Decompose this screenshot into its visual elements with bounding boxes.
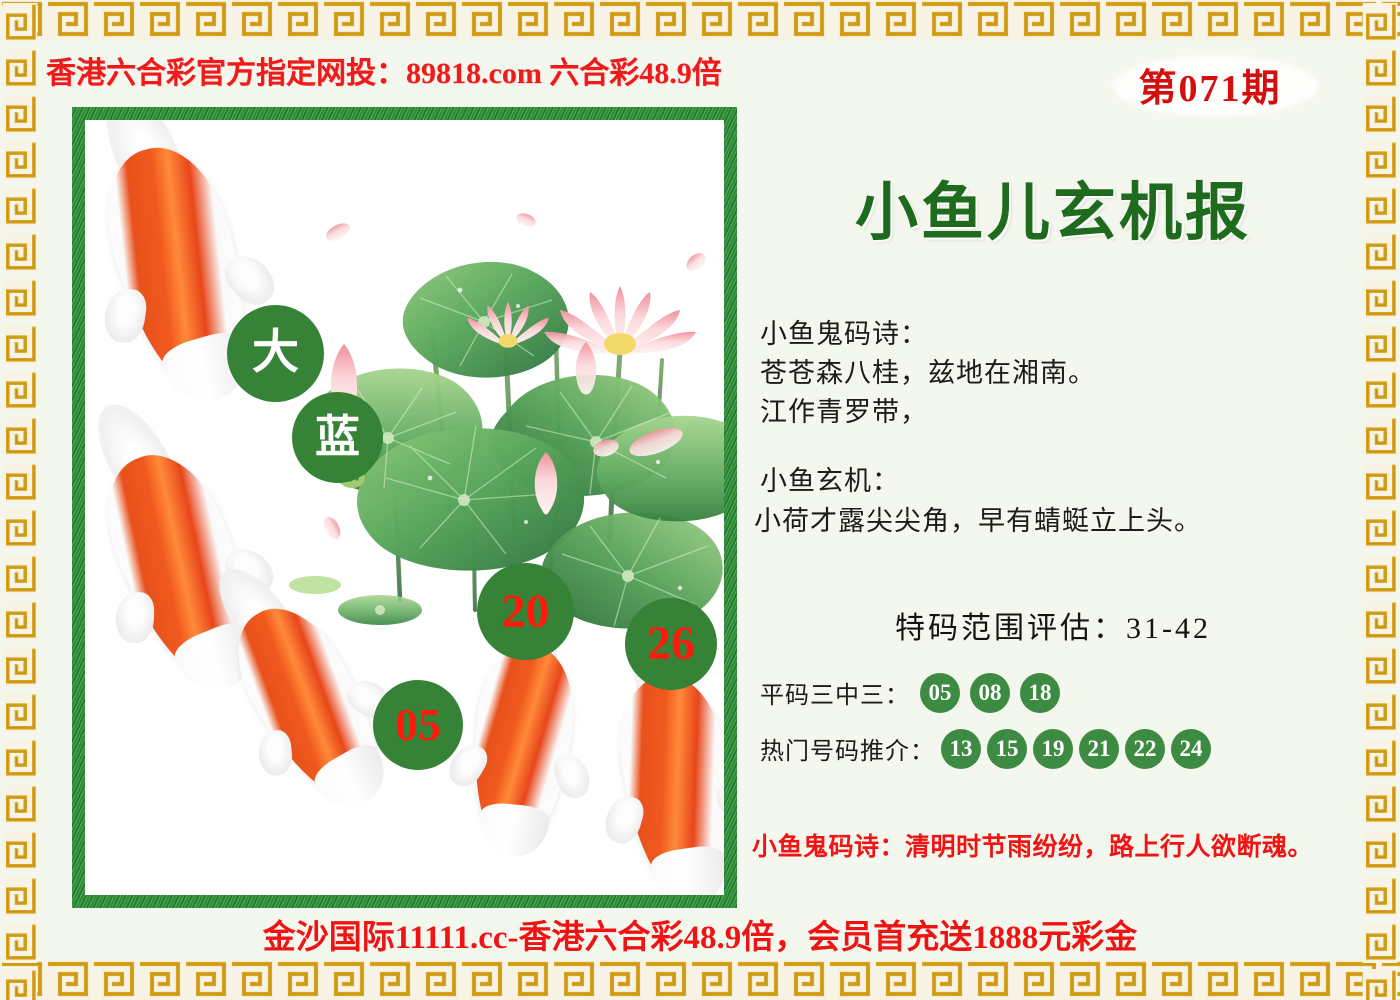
hot-number-ball: 24 (1171, 729, 1211, 769)
red-poem-note: 小鱼鬼码诗：清明时节雨纷纷，路上行人欲断魂。 (746, 827, 1360, 863)
info-panel: 小鱼儿玄机报 小鱼鬼码诗： 苍苍森八桂，兹地在湘南。 江作青罗带， 小鱼玄机： … (746, 110, 1360, 910)
hot-number-ball: 22 (1125, 729, 1165, 769)
top-promo-banner: 香港六合彩官方指定网投：89818.com 六合彩48.9倍 (46, 48, 722, 92)
border-top-meander (0, 0, 1400, 40)
xuanji-heading: 小鱼玄机： (760, 462, 1360, 501)
hot-number-ball: 21 (1079, 729, 1119, 769)
koi-fish (465, 641, 580, 850)
issue-badge-label: 第071期 (1138, 57, 1281, 112)
issue-badge: 第071期 (1075, 48, 1345, 120)
sanzhongsan-ball: 05 (920, 673, 960, 713)
xuanji-block: 小鱼玄机： 小荷才露尖尖角，早有蜻蜓立上头。 (746, 462, 1360, 540)
koi-fin-left (102, 287, 149, 346)
hot-numbers-row: 热门号码推介： 13 15 19 21 22 24 (746, 729, 1360, 769)
koi-fish (610, 669, 724, 895)
poster-root: 香港六合彩官方指定网投：89818.com 六合彩48.9倍 第071期 (0, 0, 1400, 1000)
hot-number-ball: 13 (941, 729, 981, 769)
xuanji-line-1: 小荷才露尖尖角，早有蜻蜓立上头。 (754, 502, 1360, 541)
hot-numbers-label: 热门号码推介： (760, 731, 935, 766)
border-bottom-meander (0, 960, 1400, 1000)
lotus-flower-large (544, 286, 696, 355)
sanzhongsan-row: 平码三中三： 05 08 18 (746, 673, 1360, 713)
bottom-promo-banner: 金沙国际11111.cc-香港六合彩48.9倍，会员首充送1888元彩金 (0, 910, 1400, 958)
illustration-token-da: 大 (227, 305, 324, 402)
illustration-canvas: 大 蓝 20 26 05 (85, 120, 724, 895)
border-left-meander (0, 0, 40, 1000)
sanzhongsan-label: 平码三中三： (760, 675, 910, 710)
poem-line-2: 江作青罗带， (760, 393, 1360, 432)
gui-ma-poem-block: 小鱼鬼码诗： 苍苍森八桂，兹地在湘南。 江作青罗带， (746, 315, 1360, 432)
hot-number-ball: 15 (987, 729, 1027, 769)
illustration-token-20: 20 (477, 563, 574, 660)
illustration-frame: 大 蓝 20 26 05 (72, 107, 737, 908)
koi-head (477, 801, 550, 860)
hot-number-ball: 19 (1033, 729, 1073, 769)
poem-heading: 小鱼鬼码诗： (760, 315, 1360, 354)
border-right-meander (1360, 0, 1400, 1000)
sanzhongsan-ball: 08 (970, 673, 1010, 713)
illustration-token-05: 05 (373, 680, 463, 770)
sanzhongsan-ball: 18 (1020, 673, 1060, 713)
poem-line-1: 苍苍森八桂，兹地在湘南。 (760, 354, 1360, 393)
page-title: 小鱼儿玄机报 (746, 162, 1360, 253)
illustration-token-26: 26 (625, 598, 717, 690)
special-code-range: 特码范围评估：31-42 (746, 603, 1360, 647)
koi-fin-left (115, 591, 155, 643)
illustration-token-lan: 蓝 (292, 392, 383, 483)
